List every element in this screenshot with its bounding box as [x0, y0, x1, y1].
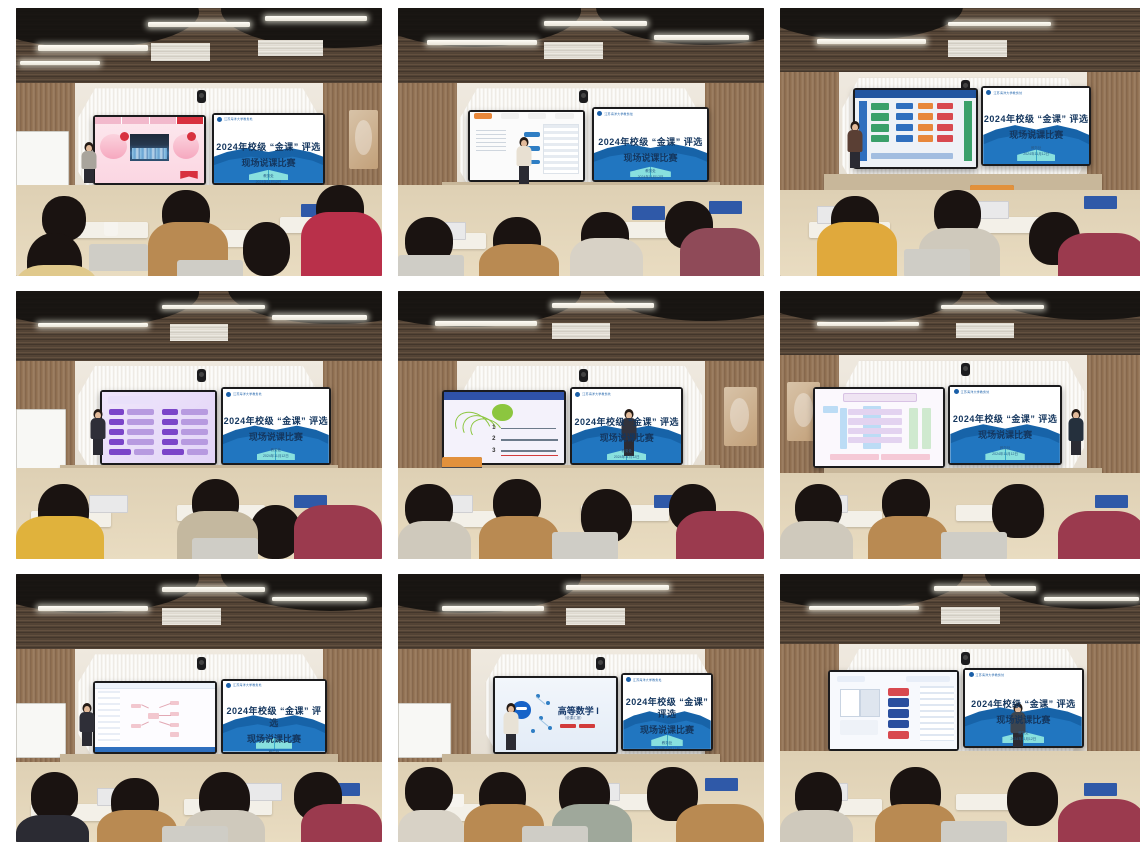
- wall-art: [349, 110, 378, 169]
- slide-logo-text: 江苏海洋大学教务处: [961, 390, 990, 394]
- slide-event-title: 江苏海洋大学教务处 2024年校级 “金课” 评选 现场说课比赛 教务处 202…: [983, 88, 1089, 164]
- slide-date: 2024年11月12日: [614, 455, 640, 460]
- photo-cell-2[interactable]: 江苏海洋大学教务处 2024年校级 “金课” 评选 现场说课比赛 教务处 202…: [398, 8, 764, 276]
- name-plate: [1084, 783, 1117, 796]
- school-logo-icon: [575, 392, 580, 397]
- presenter: [71, 703, 104, 789]
- wall-right: [1087, 355, 1140, 484]
- slide-title-line1: 2024年校级 “金课” 评选: [623, 696, 711, 720]
- slide-event-title: 江苏海洋大学教务处 2024年校级 “金课” 评选 现场说课比赛 教务处 202…: [594, 109, 707, 180]
- slide-organizer: 教务处: [269, 750, 280, 751]
- audience-head: [31, 772, 79, 820]
- school-logo-icon: [626, 677, 631, 682]
- audience-body: [780, 810, 853, 842]
- slide-title-line2: 现场说课比赛: [249, 430, 303, 443]
- chair: [941, 821, 1007, 842]
- audience-body: [479, 244, 560, 276]
- right-title-screen[interactable]: 江苏海洋大学教务处 2024年校级 “金课” 评选 现场说课比赛 教务处 202…: [212, 113, 325, 185]
- audience-body: [479, 516, 560, 559]
- presenter: [82, 409, 115, 500]
- audience-head: [1007, 772, 1058, 826]
- right-title-screen[interactable]: 江苏海洋大学教务处 2024年校级 “金课” 评选 现场说课比赛 教务处 202…: [570, 387, 683, 465]
- ceiling: [780, 574, 1140, 649]
- camera-icon: [961, 652, 970, 665]
- audience-body: [398, 521, 471, 559]
- left-display-screen[interactable]: [100, 390, 217, 465]
- slide-organizer: 教务处: [1031, 146, 1042, 151]
- slide-logo-text: 江苏海洋大学教务处: [582, 392, 611, 396]
- slide-logo-text: 江苏海洋大学教务处: [633, 678, 662, 682]
- chair: [398, 255, 464, 276]
- slide-event-title: 江苏海洋大学教务处 2024年校级 “金课” 评选 现场说课比赛 教务处 202…: [965, 670, 1082, 746]
- slide-title-line1: 2024年校级 “金课” 评选: [971, 698, 1076, 710]
- slide-title-line2: 现场说课比赛: [996, 713, 1050, 726]
- camera-icon: [197, 90, 206, 103]
- chair: [522, 826, 588, 842]
- wall-right: [323, 649, 382, 767]
- photo-cell-4[interactable]: 江苏海洋大学教务处 2024年校级 “金课” 评选 现场说课比赛 教务处 202…: [16, 291, 382, 559]
- wall-right: [1087, 644, 1140, 767]
- slide-date: 2024年11月12日: [256, 180, 282, 183]
- audience-body: [1058, 511, 1140, 559]
- ceiling: [16, 8, 382, 88]
- chair: [552, 532, 618, 559]
- audience-body: [16, 815, 89, 842]
- chair: [89, 244, 148, 271]
- whiteboard: [398, 703, 451, 759]
- whiteboard: [16, 703, 66, 759]
- chair: [162, 826, 228, 842]
- left-display-screen[interactable]: [853, 88, 977, 168]
- slide-features-innovation: 1 2 3: [444, 392, 564, 463]
- slide-logo-text: 江苏海洋大学教务处: [976, 673, 1005, 677]
- wall-art: [724, 387, 757, 446]
- slide-title-line1: 2024年校级 “金课” 评选: [223, 705, 325, 729]
- slide-textbook-objectives: [830, 672, 958, 748]
- slide-organizer: 教务处: [662, 741, 673, 746]
- camera-icon: [961, 363, 970, 376]
- slide-logo-text: 江苏海洋大学教务处: [233, 392, 262, 396]
- slide-course-info-table: [102, 392, 215, 463]
- right-title-screen[interactable]: 江苏海洋大学教务处 2024年校级 “金课” 评选 现场说课比赛 教务处 202…: [963, 668, 1084, 748]
- camera-icon: [579, 90, 588, 103]
- audience-body: [398, 810, 464, 842]
- camera-icon: [596, 657, 605, 670]
- photo-cell-9[interactable]: 江苏海洋大学教务处 2024年校级 “金课” 评选 现场说课比赛 教务处 202…: [780, 574, 1140, 842]
- slide-event-title: 江苏海洋大学教务处 2024年校级 “金课” 评选 现场说课比赛 教务处 202…: [623, 675, 711, 749]
- left-display-screen[interactable]: [813, 387, 945, 467]
- slide-title-line1: 2024年校级 “金课” 评选: [574, 416, 679, 428]
- photo-cell-5[interactable]: 1 2 3 江苏海洋大学教务处 2024年校级 “金课” 评选 现场说课比赛 教…: [398, 291, 764, 559]
- audience-body: [1058, 799, 1140, 842]
- name-plate: [709, 201, 742, 214]
- school-logo-icon: [226, 683, 231, 688]
- ceiling: [780, 291, 1140, 361]
- cup: [104, 222, 119, 235]
- slide-title-line2: 现场说课比赛: [600, 431, 654, 444]
- school-logo-icon: [986, 90, 991, 95]
- slide-title-line1: 2024年校级 “金课” 评选: [984, 113, 1089, 125]
- course-subtitle: （说课汇报）: [563, 716, 584, 721]
- ceiling: [780, 8, 1140, 78]
- slide-organizer: 教务处: [1000, 446, 1011, 451]
- audience-body: [570, 238, 643, 276]
- audience-head: [243, 222, 291, 276]
- ceiling: [398, 574, 764, 654]
- slide-organizer: 教务处: [621, 449, 632, 454]
- name-plate: [1084, 196, 1117, 209]
- chair: [177, 260, 243, 276]
- whiteboard: [16, 131, 69, 192]
- chair: [941, 532, 1007, 559]
- slide-date: 2024年11月12日: [992, 452, 1018, 457]
- slide-knowledge-map: [95, 683, 215, 751]
- name-plate: [1095, 495, 1128, 508]
- slide-title-line2: 现场说课比赛: [1009, 128, 1063, 141]
- slide-event-title: 江苏海洋大学教务处 2024年校级 “金课” 评选 现场说课比赛 教务处 202…: [950, 387, 1059, 463]
- right-title-screen[interactable]: 江苏海洋大学教务处 2024年校级 “金课” 评选 现场说课比赛 教务处 202…: [221, 679, 327, 754]
- slide-date: 2024年11月12日: [638, 175, 664, 180]
- slide-pink-course: [95, 117, 204, 183]
- audience-body: [676, 511, 764, 559]
- ceiling: [16, 574, 382, 654]
- school-logo-icon: [597, 111, 602, 116]
- right-title-screen[interactable]: 江苏海洋大学教务处 2024年校级 “金课” 评选 现场说课比赛 教务处 202…: [592, 107, 709, 182]
- slide-event-title: 江苏海洋大学教务处 2024年校级 “金课” 评选 现场说课比赛 教务处 202…: [214, 115, 323, 183]
- audience-head: [405, 767, 453, 815]
- school-logo-icon: [954, 389, 959, 394]
- left-display-screen[interactable]: [93, 681, 217, 753]
- slide-event-title: 江苏海洋大学教务处 2024年校级 “金课” 评选 现场说课比赛 教务处 202…: [223, 389, 329, 463]
- audience-body: [16, 516, 104, 559]
- right-title-screen[interactable]: 江苏海洋大学教务处 2024年校级 “金课” 评选 现场说课比赛 教务处 202…: [621, 673, 713, 751]
- slide-logo-text: 江苏海洋大学教务处: [224, 117, 253, 121]
- left-display-screen[interactable]: [828, 670, 960, 750]
- whiteboard: [16, 409, 66, 470]
- slide-date: 2024年11月12日: [654, 747, 680, 748]
- slide-organizer: 教务处: [263, 174, 274, 179]
- audience-body: [301, 804, 382, 842]
- left-display-screen[interactable]: 1 2 3: [442, 390, 566, 465]
- audience-body: [294, 505, 382, 559]
- photo-cell-1[interactable]: 江苏海洋大学教务处 2024年校级 “金课” 评选 现场说课比赛 教务处 202…: [16, 8, 382, 276]
- slide-title-line2: 现场说课比赛: [242, 156, 296, 169]
- school-logo-icon: [217, 117, 222, 122]
- chair: [904, 249, 970, 276]
- slide-title-line1: 2024年校级 “金课” 评选: [598, 136, 703, 148]
- slide-title-line1: 2024年校级 “金课” 评选: [953, 413, 1058, 425]
- slide-title-line2: 现场说课比赛: [624, 151, 678, 164]
- audience-body: [780, 521, 853, 559]
- name-plate: [705, 778, 738, 791]
- photo-cell-3[interactable]: 江苏海洋大学教务处 2024年校级 “金课” 评选 现场说课比赛 教务处 202…: [780, 8, 1140, 276]
- slide-event-title: 江苏海洋大学教务处 2024年校级 “金课” 评选 现场说课比赛 教务处 202…: [572, 389, 681, 463]
- audience-body: [680, 228, 761, 276]
- slide-date: 2024年11月12日: [1010, 737, 1036, 742]
- chair: [192, 538, 258, 559]
- ceiling: [398, 291, 764, 366]
- photo-collage: 江苏海洋大学教务处 2024年校级 “金课” 评选 现场说课比赛 教务处 202…: [0, 0, 1140, 855]
- camera-icon: [197, 657, 206, 670]
- slide-organizer: 教务处: [645, 169, 656, 174]
- laptop: [89, 495, 128, 513]
- audience-body: [676, 804, 764, 842]
- photo-cell-6[interactable]: 江苏海洋大学教务处 2024年校级 “金课” 评选 现场说课比赛 教务处 202…: [780, 291, 1140, 559]
- slide-logo-text: 江苏海洋大学教务处: [233, 683, 262, 687]
- presenter: [508, 137, 541, 228]
- right-title-screen[interactable]: 江苏海洋大学教务处 2024年校级 “金课” 评选 现场说课比赛 教务处 202…: [221, 387, 331, 465]
- ceiling: [16, 291, 382, 366]
- slide-date: 2024年11月12日: [1023, 152, 1049, 157]
- left-display-screen[interactable]: [93, 115, 206, 185]
- audience-head: [992, 484, 1043, 538]
- camera-icon: [579, 369, 588, 382]
- slide-title-line1: 2024年校级 “金课” 评选: [224, 415, 329, 427]
- slide-organizer: 教务处: [1018, 731, 1029, 736]
- photo-cell-8[interactable]: 高等数学 I （说课汇报） 江苏海洋大学教务处 2024年校级 “金课” 评选 …: [398, 574, 764, 842]
- slide-title-line2: 现场说课比赛: [247, 732, 301, 745]
- school-logo-icon: [226, 392, 231, 397]
- right-title-screen[interactable]: 江苏海洋大学教务处 2024年校级 “金课” 评选 现场说课比赛 教务处 202…: [948, 385, 1061, 465]
- slide-event-title: 江苏海洋大学教务处 2024年校级 “金课” 评选 现场说课比赛 教务处 202…: [223, 681, 325, 752]
- slide-organizer: 教务处: [271, 448, 282, 453]
- ceiling: [398, 8, 764, 88]
- name-plate: [632, 206, 665, 219]
- slide-content-structure: [855, 90, 975, 166]
- camera-icon: [197, 369, 206, 382]
- audience-body: [1058, 233, 1140, 276]
- photo-cell-7[interactable]: 江苏海洋大学教务处 2024年校级 “金课” 评选 现场说课比赛 教务处 202…: [16, 574, 382, 842]
- audience-body: [868, 516, 949, 559]
- slide-title-line2: 现场说课比赛: [640, 723, 694, 736]
- slide-title-line2: 现场说课比赛: [978, 428, 1032, 441]
- slide-unit-design: [815, 389, 943, 465]
- presenter: [1058, 409, 1095, 500]
- slide-logo-text: 江苏海洋大学教务处: [993, 91, 1022, 95]
- audience-body: [817, 222, 898, 276]
- wall-right: [705, 649, 764, 767]
- audience-body: [301, 212, 382, 276]
- slide-title-line1: 2024年校级 “金课” 评选: [216, 141, 321, 153]
- school-logo-icon: [969, 672, 974, 677]
- slide-logo-text: 江苏海洋大学教务处: [604, 112, 633, 116]
- slide-date: 2024年11月12日: [263, 454, 289, 459]
- right-title-screen[interactable]: 江苏海洋大学教务处 2024年校级 “金课” 评选 现场说课比赛 教务处 202…: [981, 86, 1091, 166]
